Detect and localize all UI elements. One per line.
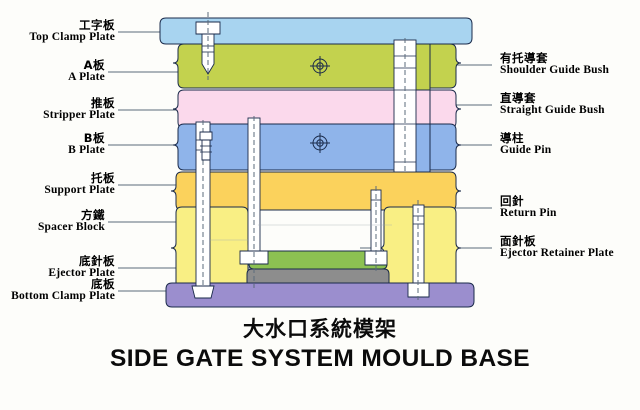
label-bottom-clamp-plate-cn: 底板 <box>0 278 115 290</box>
label-top-clamp-plate-cn: 工字板 <box>0 19 115 31</box>
label-spacer-block: 方鐵 Spacer Block <box>0 209 105 234</box>
label-spacer-block-cn: 方鐵 <box>0 209 105 221</box>
label-shoulder-guide-bush-cn: 有托導套 <box>500 52 640 64</box>
label-guide-pin-cn: 導柱 <box>500 132 640 144</box>
label-top-clamp-plate-en: Top Clamp Plate <box>0 31 115 43</box>
label-support-plate-en: Support Plate <box>0 184 115 196</box>
label-return-pin-cn: 回針 <box>500 195 640 207</box>
label-top-clamp-plate: 工字板 Top Clamp Plate <box>0 19 115 44</box>
diagram-title: 大水口系統模架 SIDE GATE SYSTEM MOULD BASE <box>0 313 640 373</box>
part-spacer-block-left <box>171 207 253 289</box>
label-b-plate-cn: B板 <box>0 132 105 144</box>
label-b-plate-en: B Plate <box>0 144 105 156</box>
label-return-pin-en: Return Pin <box>500 207 640 219</box>
label-a-plate: A板 A Plate <box>0 59 105 84</box>
label-stripper-plate: 推板 Stripper Plate <box>0 97 115 122</box>
label-ejector-retainer-plate: 面針板 Ejector Retainer Plate <box>500 235 640 260</box>
diagram-canvas: .ol{stroke:#1a2a4a;stroke-width:1;} .thi… <box>0 0 640 410</box>
label-stripper-plate-en: Stripper Plate <box>0 109 115 121</box>
part-guide-pin-column <box>394 38 430 174</box>
label-a-plate-cn: A板 <box>0 59 105 71</box>
part-b-plate-screw <box>200 132 212 160</box>
label-a-plate-en: A Plate <box>0 71 105 83</box>
label-bottom-clamp-plate-en: Bottom Clamp Plate <box>0 290 115 302</box>
label-straight-guide-bush-cn: 直導套 <box>500 92 640 104</box>
label-shoulder-guide-bush: 有托導套 Shoulder Guide Bush <box>500 52 640 77</box>
label-ejector-retainer-plate-en: Ejector Retainer Plate <box>500 247 640 259</box>
label-spacer-block-en: Spacer Block <box>0 221 105 233</box>
label-return-pin: 回針 Return Pin <box>500 195 640 220</box>
label-bottom-clamp-plate: 底板 Bottom Clamp Plate <box>0 278 115 303</box>
label-b-plate: B板 B Plate <box>0 132 105 157</box>
label-ejector-retainer-plate-cn: 面針板 <box>500 235 640 247</box>
diagram-title-en: SIDE GATE SYSTEM MOULD BASE <box>0 345 640 373</box>
label-stripper-plate-cn: 推板 <box>0 97 115 109</box>
label-ejector-plate-cn: 底針板 <box>0 255 115 267</box>
label-straight-guide-bush-en: Straight Guide Bush <box>500 104 640 116</box>
label-guide-pin: 導柱 Guide Pin <box>500 132 640 157</box>
label-shoulder-guide-bush-en: Shoulder Guide Bush <box>500 64 640 76</box>
label-guide-pin-en: Guide Pin <box>500 144 640 156</box>
label-straight-guide-bush: 直導套 Straight Guide Bush <box>500 92 640 117</box>
label-support-plate: 托板 Support Plate <box>0 172 115 197</box>
diagram-title-cn: 大水口系統模架 <box>0 313 640 343</box>
label-support-plate-cn: 托板 <box>0 172 115 184</box>
